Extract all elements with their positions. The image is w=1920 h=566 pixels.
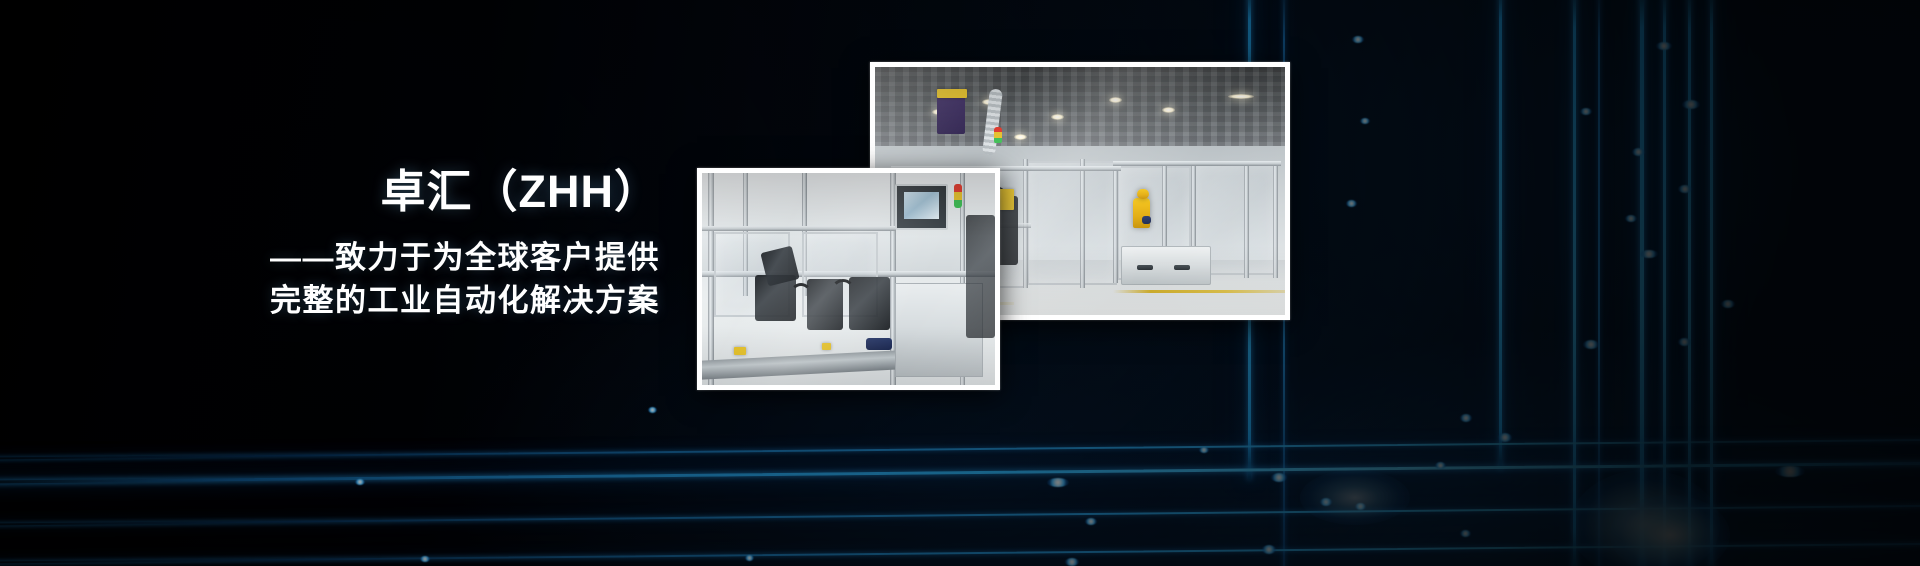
neon-vertical-line: [1640, 0, 1644, 566]
equipment-tag: [937, 89, 967, 98]
stack-light: [954, 184, 962, 208]
ceiling-lamp: [1109, 97, 1122, 103]
subtitle-line-2: 完整的工业自动化解决方案: [0, 280, 660, 323]
neon-vertical-line: [1688, 0, 1691, 566]
equipment-tag: [734, 347, 746, 355]
robot-base: [1142, 216, 1151, 224]
ceiling-lamp: [1162, 107, 1175, 113]
frame-beam: [1113, 161, 1281, 166]
equipment-cart: [1121, 246, 1211, 286]
assembly-mechanism: [849, 277, 890, 330]
page-title: 卓汇（ZHH）: [0, 168, 660, 215]
neon-vertical-line: [1663, 0, 1666, 566]
cart-handle: [1174, 265, 1190, 270]
neon-vertical-line: [1710, 0, 1713, 566]
frame-post: [1273, 161, 1278, 278]
frame-post: [1113, 164, 1118, 283]
equipment-tag: [998, 189, 1014, 210]
stack-light-green: [954, 200, 962, 208]
stack-light-yellow: [954, 192, 962, 200]
robot-arm: [1137, 189, 1149, 199]
frame-beam: [702, 226, 895, 231]
frame-post: [1080, 159, 1085, 288]
frame-post: [1244, 161, 1249, 278]
machine-scene: [702, 173, 995, 385]
robot-arm: [1133, 198, 1150, 228]
cart-handle: [1137, 265, 1153, 270]
stack-light-green: [994, 138, 1002, 144]
subtitle-line-1: ——致力于为全球客户提供: [0, 237, 660, 280]
stack-light: [994, 127, 1002, 144]
hose: [831, 279, 855, 303]
neon-vertical-line: [1598, 0, 1600, 566]
safety-cage: [1027, 161, 1117, 285]
neon-vertical-line: [1499, 0, 1502, 470]
neon-vertical-line: [1573, 0, 1576, 566]
stack-light-red: [954, 184, 962, 192]
floor-marking: [1113, 290, 1285, 293]
equipment-tag: [822, 343, 831, 350]
hmi-touch-panel[interactable]: [895, 184, 948, 231]
hero-subtitle: ——致力于为全球客户提供 完整的工业自动化解决方案: [0, 237, 660, 323]
hero-text-block: 卓汇（ZHH） ——致力于为全球客户提供 完整的工业自动化解决方案: [0, 168, 660, 323]
blue-fixture: [866, 338, 892, 350]
photo-assembly-machine-closeup[interactable]: [697, 168, 1000, 390]
overhead-drum: [937, 92, 965, 134]
hose: [790, 283, 812, 305]
side-machinery: [966, 215, 995, 338]
hero-banner: 卓汇（ZHH） ——致力于为全球客户提供 完整的工业自动化解决方案: [0, 0, 1920, 566]
photo-inner: [702, 173, 995, 385]
